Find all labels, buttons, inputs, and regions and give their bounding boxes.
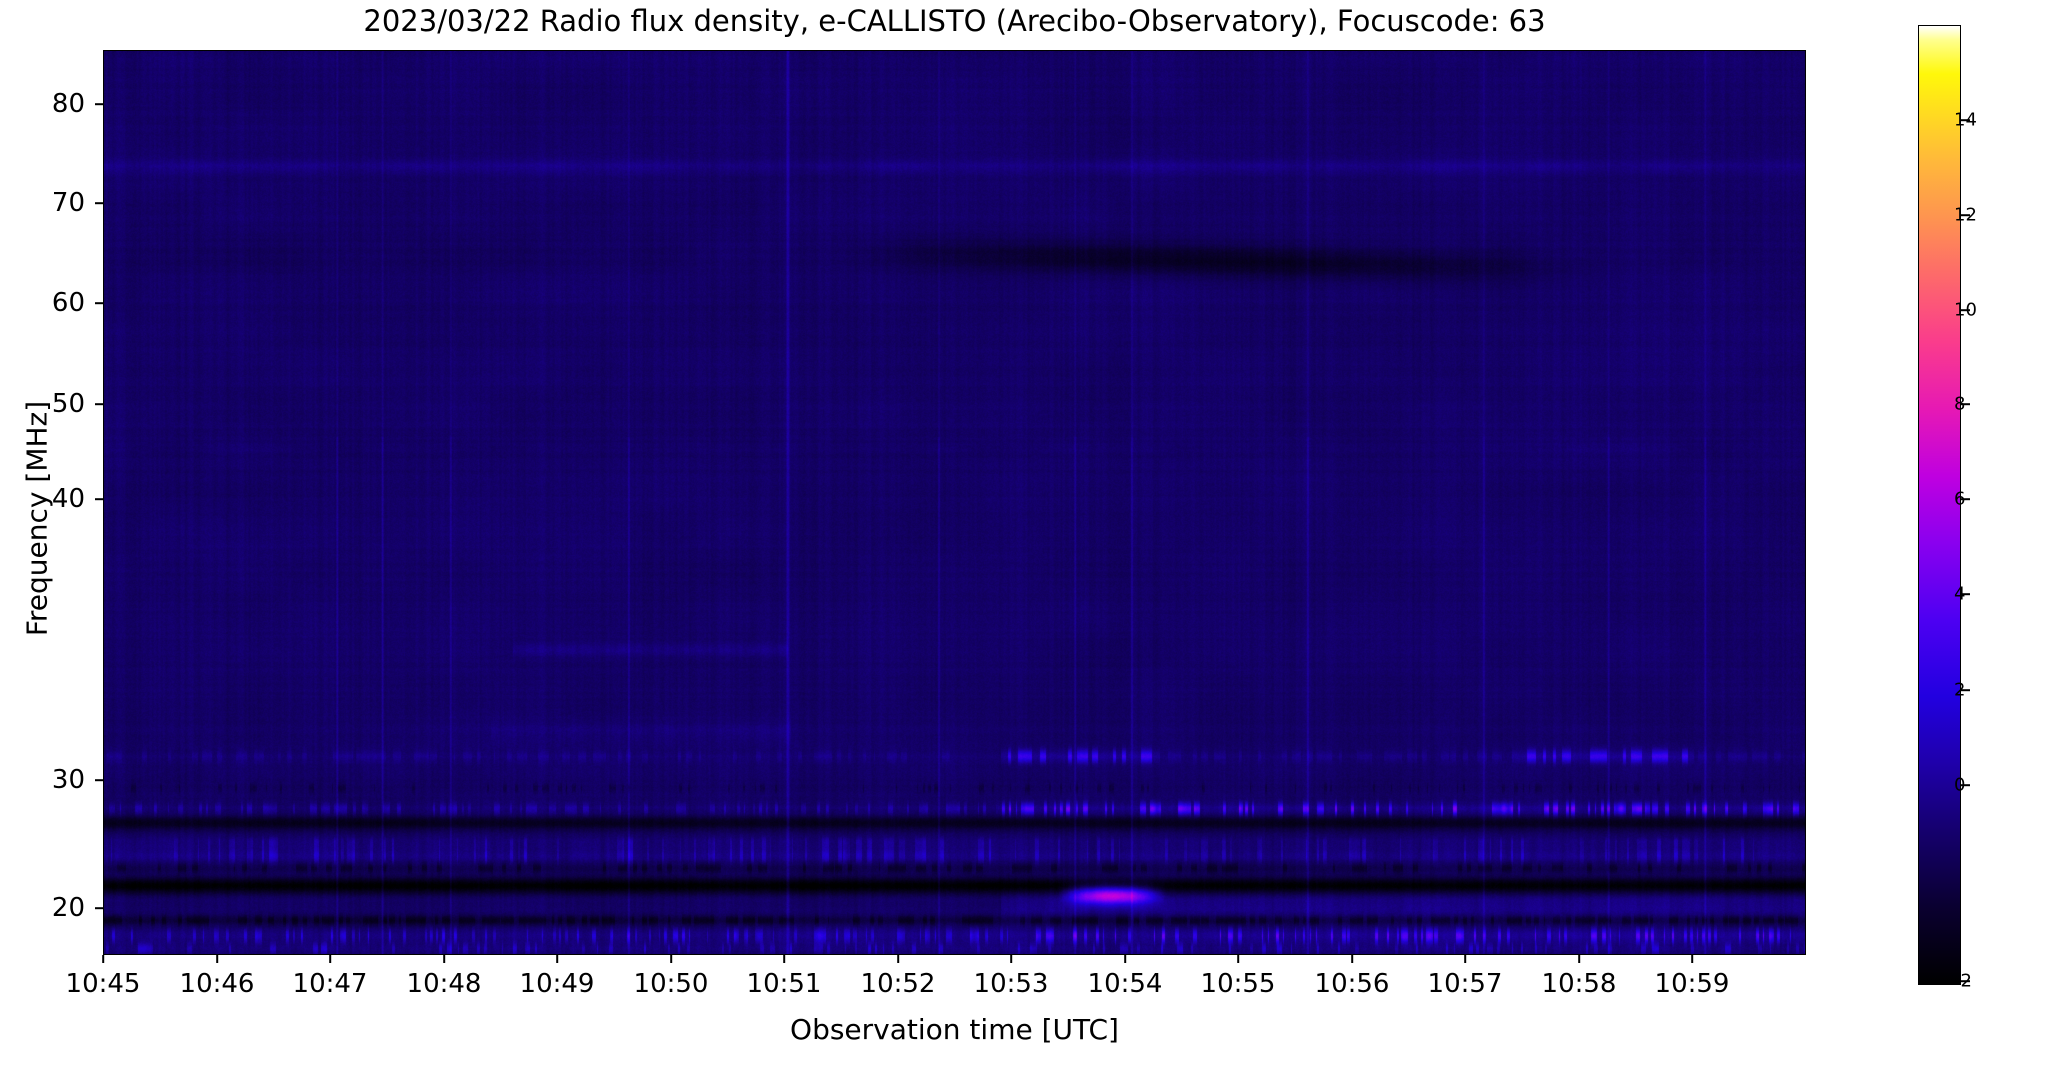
colorbar-tick-mark bbox=[1961, 119, 1970, 121]
x-tick-mark bbox=[216, 955, 218, 963]
x-tick-label: 10:58 bbox=[1542, 969, 1617, 999]
x-axis: 10:4510:4610:4710:4810:4910:5010:5110:52… bbox=[0, 955, 2047, 1015]
x-tick-label: 10:55 bbox=[1201, 969, 1276, 999]
x-tick-mark bbox=[1578, 955, 1580, 963]
x-tick-label: 10:48 bbox=[407, 969, 482, 999]
x-tick-label: 10:59 bbox=[1655, 969, 1730, 999]
x-tick-mark bbox=[1237, 955, 1239, 963]
spectrogram-image bbox=[104, 51, 1806, 955]
x-tick-label: 10:52 bbox=[861, 969, 936, 999]
x-tick-label: 10:57 bbox=[1428, 969, 1503, 999]
colorbar-tick-mark bbox=[1961, 593, 1970, 595]
y-tick-mark bbox=[95, 103, 103, 105]
colorbar-tick-mark bbox=[1961, 980, 1970, 982]
colorbar-tick-mark bbox=[1961, 784, 1970, 786]
x-tick-mark bbox=[783, 955, 785, 963]
x-tick-label: 10:49 bbox=[520, 969, 595, 999]
x-axis-label: Observation time [UTC] bbox=[103, 1013, 1806, 1046]
spectrogram-axes[interactable] bbox=[103, 50, 1806, 955]
y-tick-mark bbox=[95, 779, 103, 781]
y-tick-label: 40 bbox=[52, 484, 85, 514]
x-tick-mark bbox=[329, 955, 331, 963]
y-axis-label: Frequency [MHz] bbox=[21, 69, 54, 969]
y-tick-label: 50 bbox=[52, 389, 85, 419]
x-tick-mark bbox=[443, 955, 445, 963]
colorbar-tick-mark bbox=[1961, 214, 1970, 216]
y-tick-label: 20 bbox=[52, 893, 85, 923]
x-tick-mark bbox=[670, 955, 672, 963]
y-tick-label: 70 bbox=[52, 188, 85, 218]
x-tick-mark bbox=[897, 955, 899, 963]
x-tick-mark bbox=[1351, 955, 1353, 963]
colorbar-tick-mark bbox=[1961, 689, 1970, 691]
x-tick-label: 10:46 bbox=[180, 969, 255, 999]
x-tick-mark bbox=[1464, 955, 1466, 963]
figure-canvas: 2023/03/22 Radio flux density, e-CALLIST… bbox=[0, 0, 2047, 1067]
x-tick-mark bbox=[1124, 955, 1126, 963]
colorbar-axis: 14121086420-2 bbox=[1918, 0, 2047, 1067]
colorbar-tick-mark bbox=[1961, 309, 1970, 311]
y-tick-label: 80 bbox=[52, 89, 85, 119]
y-tick-mark bbox=[95, 403, 103, 405]
y-tick-mark bbox=[95, 302, 103, 304]
y-tick-mark bbox=[95, 498, 103, 500]
page-title: 2023/03/22 Radio flux density, e-CALLIST… bbox=[103, 4, 1806, 38]
x-tick-label: 10:54 bbox=[1088, 969, 1163, 999]
colorbar-tick-mark bbox=[1961, 403, 1970, 405]
x-tick-label: 10:45 bbox=[66, 969, 141, 999]
x-tick-label: 10:56 bbox=[1315, 969, 1390, 999]
y-tick-label: 30 bbox=[52, 765, 85, 795]
x-tick-label: 10:51 bbox=[747, 969, 822, 999]
colorbar-tick-mark bbox=[1961, 498, 1970, 500]
x-tick-mark bbox=[556, 955, 558, 963]
x-tick-mark bbox=[102, 955, 104, 963]
y-tick-label: 60 bbox=[52, 288, 85, 318]
y-tick-mark bbox=[95, 202, 103, 204]
x-tick-label: 10:53 bbox=[974, 969, 1049, 999]
x-tick-label: 10:50 bbox=[634, 969, 709, 999]
x-tick-label: 10:47 bbox=[293, 969, 368, 999]
x-tick-mark bbox=[1010, 955, 1012, 963]
y-tick-mark bbox=[95, 907, 103, 909]
x-tick-mark bbox=[1691, 955, 1693, 963]
